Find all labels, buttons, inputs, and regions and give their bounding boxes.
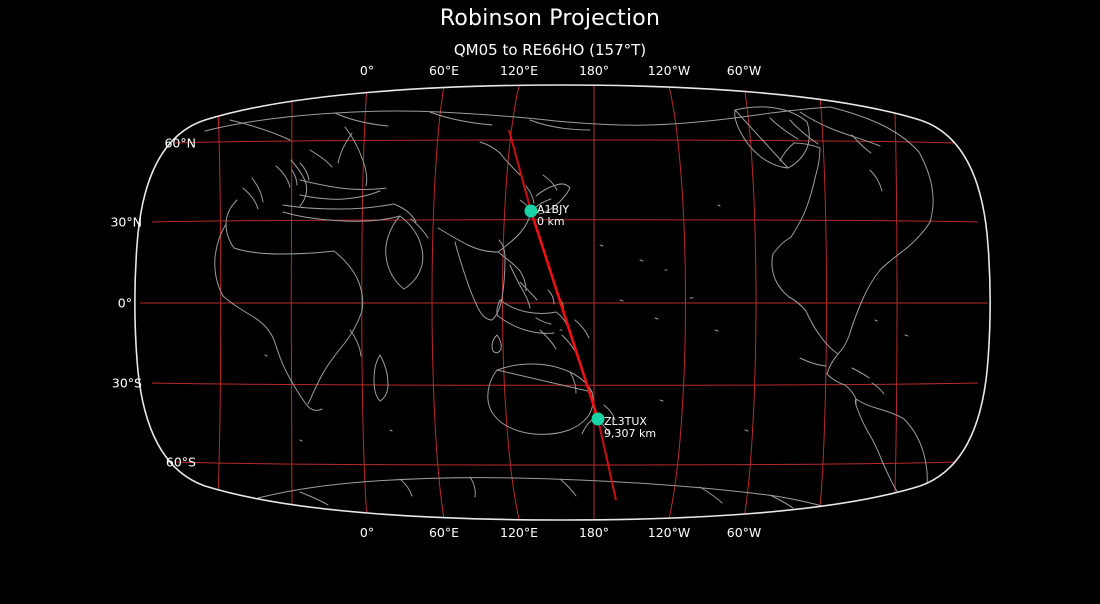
lon-tick-bottom-4: 120°W xyxy=(648,525,690,540)
lon-tick-bottom-1: 60°E xyxy=(429,525,459,540)
lon-tick-top-2: 120°E xyxy=(500,63,538,78)
lon-tick-bottom-2: 120°E xyxy=(500,525,538,540)
map-svg xyxy=(0,0,1100,600)
station-distance-a1bjy: 0 km xyxy=(537,216,565,229)
lon-tick-bottom-5: 60°W xyxy=(727,525,762,540)
station-distance-zl3tux: 9,307 km xyxy=(604,428,656,441)
lon-tick-top-5: 60°W xyxy=(727,63,762,78)
lon-tick-top-1: 60°E xyxy=(429,63,459,78)
lat-tick-2: 0° xyxy=(118,296,132,311)
lon-tick-top-3: 180° xyxy=(579,63,609,78)
lat-tick-3: 30°S xyxy=(112,376,142,391)
station-marker-a1bjy[interactable] xyxy=(525,205,538,218)
lat-tick-0: 60°N xyxy=(164,136,196,151)
map-figure: Robinson Projection QM05 to RE66HO (157°… xyxy=(0,0,1100,600)
lon-tick-top-4: 120°W xyxy=(648,63,690,78)
lat-tick-4: 60°S xyxy=(166,455,196,470)
map-canvas[interactable]: 0° 60°E 120°E 180° 120°W 60°W 0° 60°E 12… xyxy=(0,0,1100,600)
lat-tick-1: 30°N xyxy=(110,215,142,230)
lon-tick-bottom-3: 180° xyxy=(579,525,609,540)
lon-tick-top-0: 0° xyxy=(360,63,374,78)
lon-tick-bottom-0: 0° xyxy=(360,525,374,540)
station-marker-zl3tux[interactable] xyxy=(592,413,605,426)
